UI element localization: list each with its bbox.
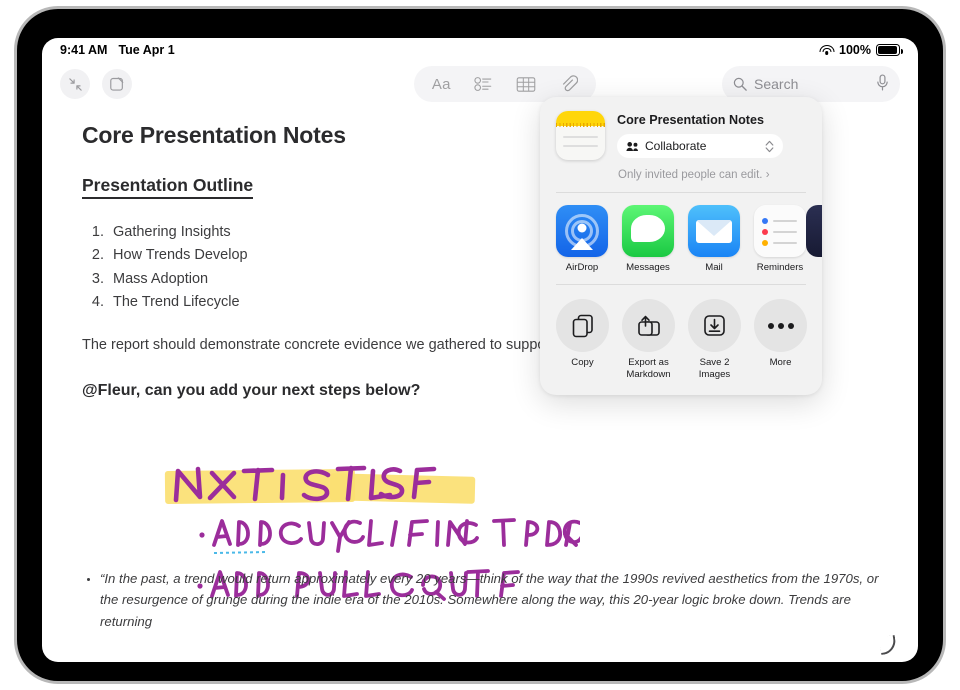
share-target-airdrop[interactable]: AirDrop — [556, 205, 608, 273]
compose-icon[interactable] — [102, 69, 132, 99]
share-sheet[interactable]: Core Presentation Notes Collaborate Only… — [540, 97, 822, 395]
share-target-label: Messages — [622, 262, 674, 273]
action-label: Copy — [556, 357, 609, 369]
search-icon — [733, 77, 747, 91]
battery-percent: 100% — [839, 43, 871, 57]
share-target-reminders[interactable]: Reminders — [754, 205, 806, 273]
share-target-messages[interactable]: Messages — [622, 205, 674, 273]
action-export-markdown[interactable]: Export as Markdown — [622, 299, 675, 381]
collaborate-dropdown[interactable]: Collaborate — [617, 134, 783, 158]
action-label: Export as Markdown — [622, 357, 675, 381]
quote-block: “In the past, a trend would return appro… — [82, 568, 888, 632]
permission-text: Only invited people can edit. — [618, 169, 762, 181]
share-target-label: AirDrop — [556, 262, 608, 273]
spellcheck-underline — [214, 552, 268, 553]
action-label: Save 2 Images — [688, 357, 741, 381]
share-apps-row: AirDrop Messages Mail Reminders — [540, 193, 822, 273]
status-date: Tue Apr 1 — [118, 43, 174, 57]
reminders-icon — [754, 205, 806, 257]
device-frame: 9:41 AM Tue Apr 1 100% Aa — [14, 6, 946, 684]
chevron-right-icon: › — [766, 169, 770, 181]
checklist-icon[interactable] — [467, 71, 501, 97]
people-icon — [626, 141, 639, 152]
search-placeholder: Search — [754, 76, 798, 92]
share-actions-row: Copy Export as Markdown Save 2 Images Mo… — [540, 285, 822, 381]
mail-icon — [688, 205, 740, 257]
permission-row[interactable]: Only invited people can edit. › — [540, 160, 822, 181]
share-target-partial[interactable] — [806, 205, 822, 257]
copy-icon — [556, 299, 609, 352]
messages-icon — [622, 205, 674, 257]
share-target-label: Reminders — [754, 262, 806, 273]
action-more[interactable]: More — [754, 299, 807, 381]
format-label: Aa — [432, 76, 451, 93]
section-heading: Presentation Outline — [82, 175, 253, 199]
status-bar: 9:41 AM Tue Apr 1 100% — [42, 38, 918, 62]
format-text-button[interactable]: Aa — [424, 71, 458, 97]
collapse-arrows-icon[interactable] — [60, 69, 90, 99]
notes-app-icon — [556, 111, 605, 160]
handwriting-heading — [176, 468, 434, 500]
action-save-images[interactable]: Save 2 Images — [688, 299, 741, 381]
action-copy[interactable]: Copy — [556, 299, 609, 381]
status-time: 9:41 AM — [60, 43, 107, 57]
share-sheet-title: Core Presentation Notes — [617, 113, 783, 127]
device-bezel: 9:41 AM Tue Apr 1 100% Aa — [17, 9, 943, 681]
paperclip-icon[interactable] — [552, 71, 586, 97]
wifi-icon — [819, 45, 834, 56]
quote-text: “In the past, a trend would return appro… — [100, 568, 888, 632]
battery-icon — [876, 44, 900, 56]
airdrop-icon — [556, 205, 608, 257]
microphone-icon[interactable] — [876, 74, 889, 94]
chevron-updown-icon — [765, 139, 774, 154]
ellipsis-icon — [754, 299, 807, 352]
action-label: More — [754, 357, 807, 369]
screen: 9:41 AM Tue Apr 1 100% Aa — [42, 38, 918, 662]
export-up-icon — [622, 299, 675, 352]
collaborate-label: Collaborate — [645, 139, 706, 153]
table-icon[interactable] — [509, 71, 543, 97]
share-target-mail[interactable]: Mail — [688, 205, 740, 273]
share-target-label: Mail — [688, 262, 740, 273]
download-icon — [688, 299, 741, 352]
